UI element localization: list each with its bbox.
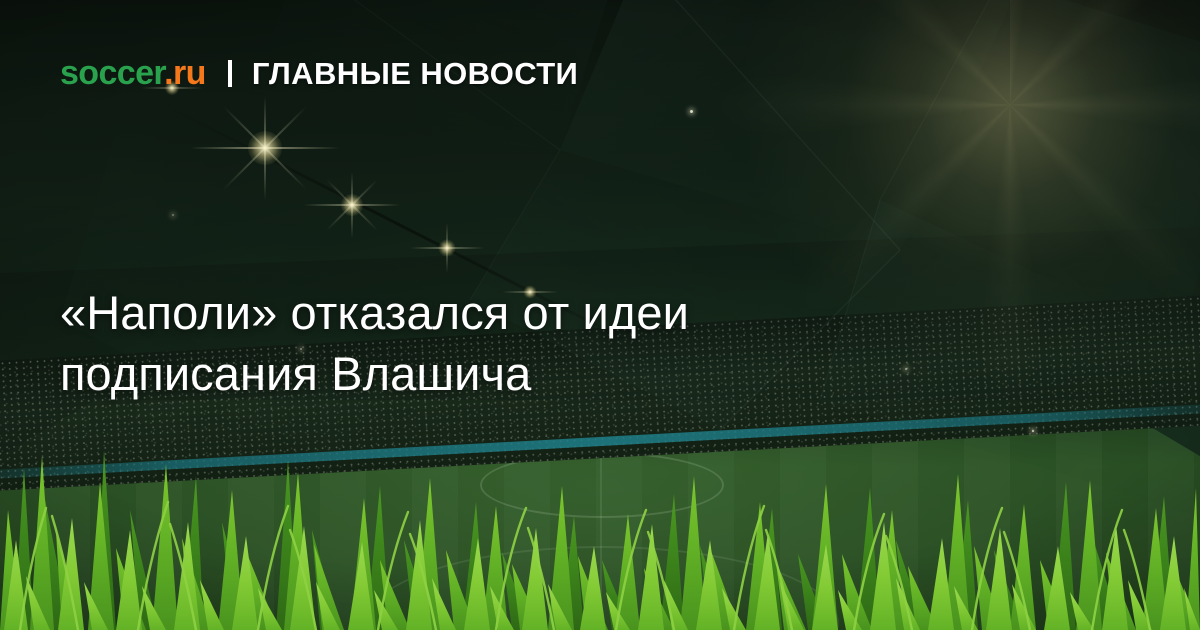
- brand-bar: soccer.ru ГЛАВНЫЕ НОВОСТИ: [60, 52, 578, 94]
- brand-separator: [228, 60, 232, 87]
- article-headline: «Наполи» отказался от идеи подписания Вл…: [60, 283, 960, 404]
- logo-primary-text: soccer: [60, 54, 164, 92]
- section-kicker: ГЛАВНЫЕ НОВОСТИ: [252, 58, 578, 89]
- logo-suffix-text: .ru: [164, 54, 206, 92]
- site-logo[interactable]: soccer.ru: [60, 56, 206, 90]
- social-share-card: soccer.ru ГЛАВНЫЕ НОВОСТИ «Наполи» отказ…: [0, 0, 1200, 630]
- card-content: soccer.ru ГЛАВНЫЕ НОВОСТИ «Наполи» отказ…: [0, 0, 1200, 630]
